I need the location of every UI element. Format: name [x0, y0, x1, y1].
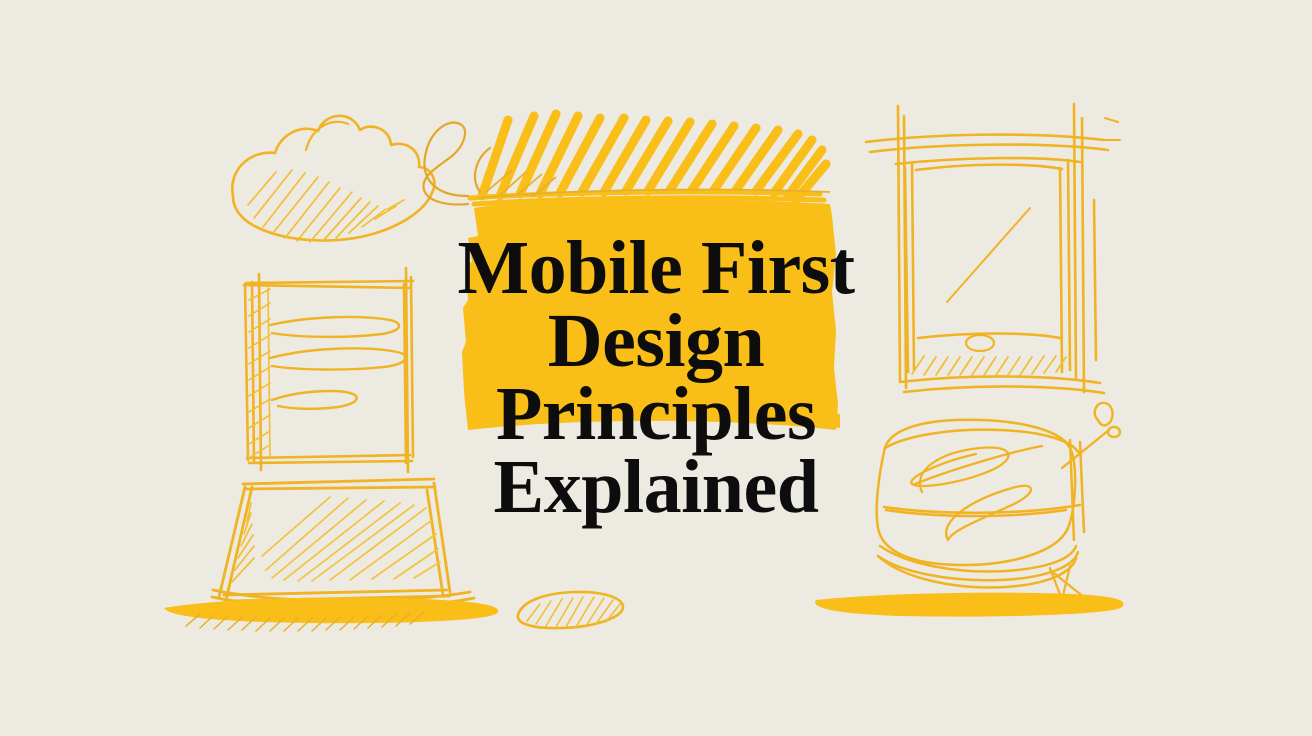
page-title: Mobile First Design Principles Explained: [406, 232, 906, 524]
scribble-loop: [423, 123, 490, 205]
poster-canvas: Mobile First Design Principles Explained: [0, 0, 1312, 736]
scribble-hatch-top: [482, 114, 826, 200]
title-line-3: Principles: [406, 378, 906, 451]
title-line-4: Explained: [406, 451, 906, 524]
title-line-1: Mobile First: [406, 232, 906, 305]
title-line-2: Design: [406, 305, 906, 378]
